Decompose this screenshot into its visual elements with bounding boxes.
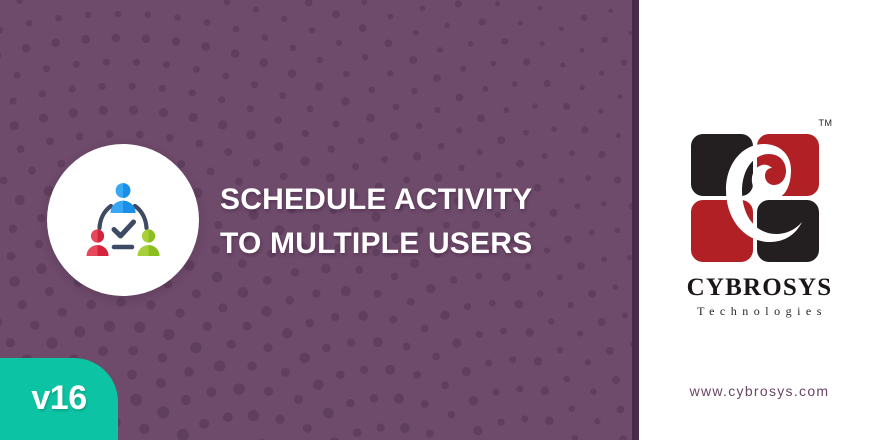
trademark-symbol: TM [819, 118, 833, 128]
headline: SCHEDULE ACTIVITY TO MULTIPLE USERS [220, 178, 620, 266]
brand-name: CYBROSYS [639, 274, 880, 302]
brand-panel: TM CYBROSYS Technologies www.cybrosys.co… [639, 0, 880, 440]
multiple-users-check-icon [85, 180, 161, 260]
version-badge-label: v16 [31, 379, 86, 420]
purple-background-panel: SCHEDULE ACTIVITY TO MULTIPLE USERS v16 [0, 0, 632, 440]
website-url: www.cybrosys.com [639, 383, 880, 399]
brand-tagline: Technologies [639, 304, 880, 319]
cybrosys-logo-mark: TM [685, 118, 835, 266]
promo-banner: SCHEDULE ACTIVITY TO MULTIPLE USERS v16 [0, 0, 880, 440]
headline-line-2: TO MULTIPLE USERS [220, 222, 620, 266]
brand-logo: TM CYBROSYS Technologies [639, 118, 880, 319]
headline-line-1: SCHEDULE ACTIVITY [220, 178, 620, 222]
version-badge: v16 [0, 358, 118, 440]
icon-circle-badge [47, 144, 199, 296]
panel-edge-strip [632, 0, 639, 440]
